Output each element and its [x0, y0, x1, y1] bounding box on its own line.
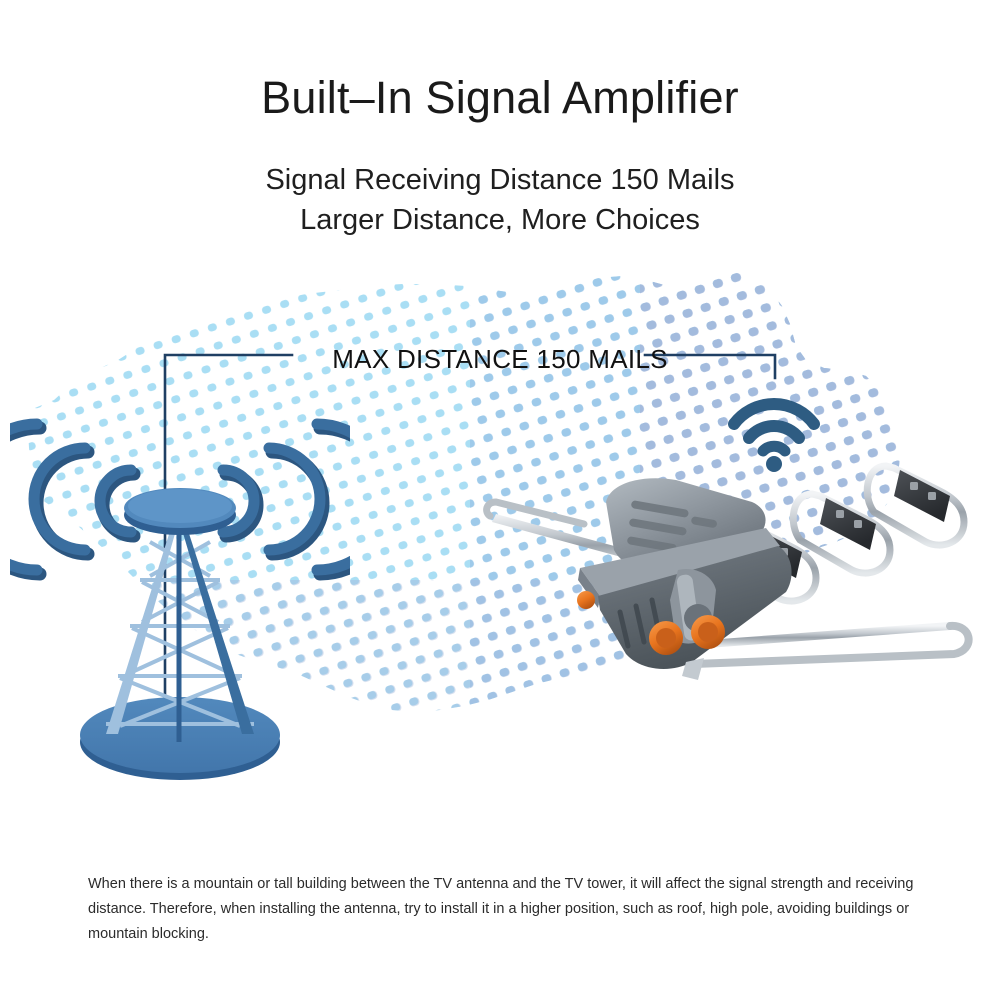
- signal-wave-left: [10, 424, 134, 574]
- signal-wave-right: [223, 424, 350, 574]
- antenna-housing: [577, 478, 792, 680]
- tv-broadcast-tower: [10, 390, 350, 810]
- footer-note: When there is a mountain or tall buildin…: [88, 872, 916, 947]
- page-title: Built–In Signal Amplifier: [0, 74, 1000, 121]
- callout-label: MAX DISTANCE 150 MAILS: [0, 344, 1000, 375]
- outdoor-tv-antenna: [480, 450, 1000, 740]
- subtitle-line-1: Signal Receiving Distance 150 Mails: [0, 162, 1000, 199]
- tower-dish: [124, 488, 236, 535]
- promo-graphic-page: Built–In Signal Amplifier Signal Receivi…: [0, 0, 1000, 1000]
- illustration-stage: MAX DISTANCE 150 MAILS: [0, 250, 1000, 810]
- subtitle-line-2: Larger Distance, More Choices: [0, 202, 1000, 239]
